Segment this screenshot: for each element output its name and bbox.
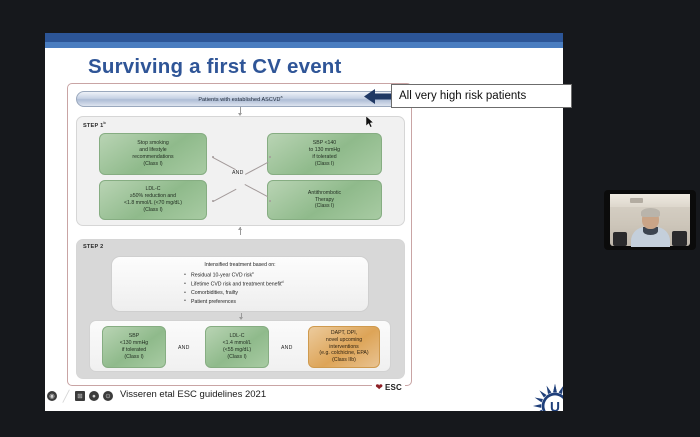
connector-dot-br	[269, 200, 271, 202]
box-sbp-130: SBP <130 mmHg if tolerated (Class I)	[102, 326, 166, 368]
pen-icon[interactable]: ╱	[61, 391, 71, 401]
esc-guideline-figure: Patients with established ASCVDa STEP 1b…	[67, 83, 412, 386]
connector-dot-bl	[212, 200, 214, 202]
and-label-step1: AND	[232, 170, 244, 176]
meeting-screen-share-view: Surviving a first CV event Patients with…	[0, 0, 700, 437]
zoom-icon[interactable]: ●	[89, 391, 99, 401]
box-ldl-c-step2: LDL-C <1.4 mmol/L (<55 mg/dL) (Class I)	[205, 326, 269, 368]
callout-box: All very high risk patients	[391, 84, 572, 108]
presenter-toolbar[interactable]: ◉ ╱ ⊞ ● ⊙	[47, 391, 113, 401]
connector-diagonal-tr	[245, 162, 268, 175]
page-title: Surviving a first CV event	[88, 55, 342, 79]
connector-diagonal-tl	[213, 157, 236, 170]
step1-panel: STEP 1b Stop smoking and lifestyle recom…	[76, 116, 405, 226]
connector-diagonal-br	[245, 184, 268, 197]
esc-logo: ❤ ESC	[372, 383, 405, 392]
box-ldl-c-step1: LDL-C ≥50% reduction and <1.8 mmol/L (<7…	[99, 180, 207, 220]
callout-label: All very high risk patients	[399, 90, 526, 102]
step1-superscript: b	[103, 121, 106, 125]
video-chair-left	[613, 232, 627, 246]
ascvd-banner: Patients with established ASCVDa	[76, 91, 405, 107]
connector-dot-tr	[269, 156, 271, 158]
ascvd-superscript: a	[281, 95, 283, 99]
ascvd-banner-label: Patients with established ASCVDa	[198, 95, 282, 103]
intensified-treatment-card: Intensified treatment based on: Residual…	[111, 256, 369, 312]
list-item: Residual 10-year CVD riskc	[184, 271, 368, 280]
slide-header-band-dark	[45, 33, 563, 42]
and-label-step2-2: AND	[281, 345, 293, 351]
step2-boxes-row: SBP <130 mmHg if tolerated (Class I) AND…	[89, 320, 391, 372]
slide-thumbnails-icon[interactable]: ⊞	[75, 391, 85, 401]
list-item: Patient preferences	[184, 298, 368, 306]
more-options-icon[interactable]: ⊙	[103, 391, 113, 401]
participant-video-tile[interactable]	[604, 190, 696, 250]
box-antithrombotic-therapy: Antithrombotic Therapy (Class I)	[267, 180, 382, 220]
video-ceiling-vent	[630, 198, 643, 203]
connector-arrow-step1-step2	[238, 227, 242, 230]
list-item: Comorbidities, frailty	[184, 289, 368, 297]
video-chair-right	[672, 231, 687, 246]
step2-label: STEP 2	[83, 244, 103, 250]
esc-logo-label: ESC	[385, 383, 402, 392]
intensified-title: Intensified treatment based on:	[112, 262, 368, 268]
box-stop-smoking: Stop smoking and lifestyle recommendatio…	[99, 133, 207, 175]
connector-diagonal-bl	[213, 189, 236, 202]
slide-header-band-light	[45, 42, 563, 48]
heart-icon: ❤	[375, 383, 383, 392]
step2-panel: STEP 2 Intensified treatment based on: R…	[76, 239, 405, 379]
box-sbp-140: SBP <140 to 130 mmHg if tolerated (Class…	[267, 133, 382, 175]
laser-pointer-icon[interactable]: ◉	[47, 391, 57, 401]
connector-dot-tl	[212, 156, 214, 158]
bullet-superscript: c	[252, 271, 254, 275]
box-dapt-dpi: DAPT, DPI, novel upcoming interventions …	[308, 326, 380, 368]
bullet-superscript: d	[282, 280, 284, 284]
step1-label: STEP 1b	[83, 121, 106, 129]
and-label-step2-1: AND	[178, 345, 190, 351]
umc-utrecht-sunburst-logo: U	[532, 383, 563, 411]
umc-logo-letter: U	[550, 400, 560, 411]
video-ceiling	[610, 194, 690, 207]
slide-caption: Visseren etal ESC guidelines 2021	[120, 389, 266, 400]
list-item: Lifetime CVD risk and treatment benefitd	[184, 280, 368, 289]
mouse-pointer-icon	[366, 116, 374, 128]
intensified-bullet-list: Residual 10-year CVD riskc Lifetime CVD …	[184, 271, 368, 306]
video-person-hair	[641, 208, 660, 217]
